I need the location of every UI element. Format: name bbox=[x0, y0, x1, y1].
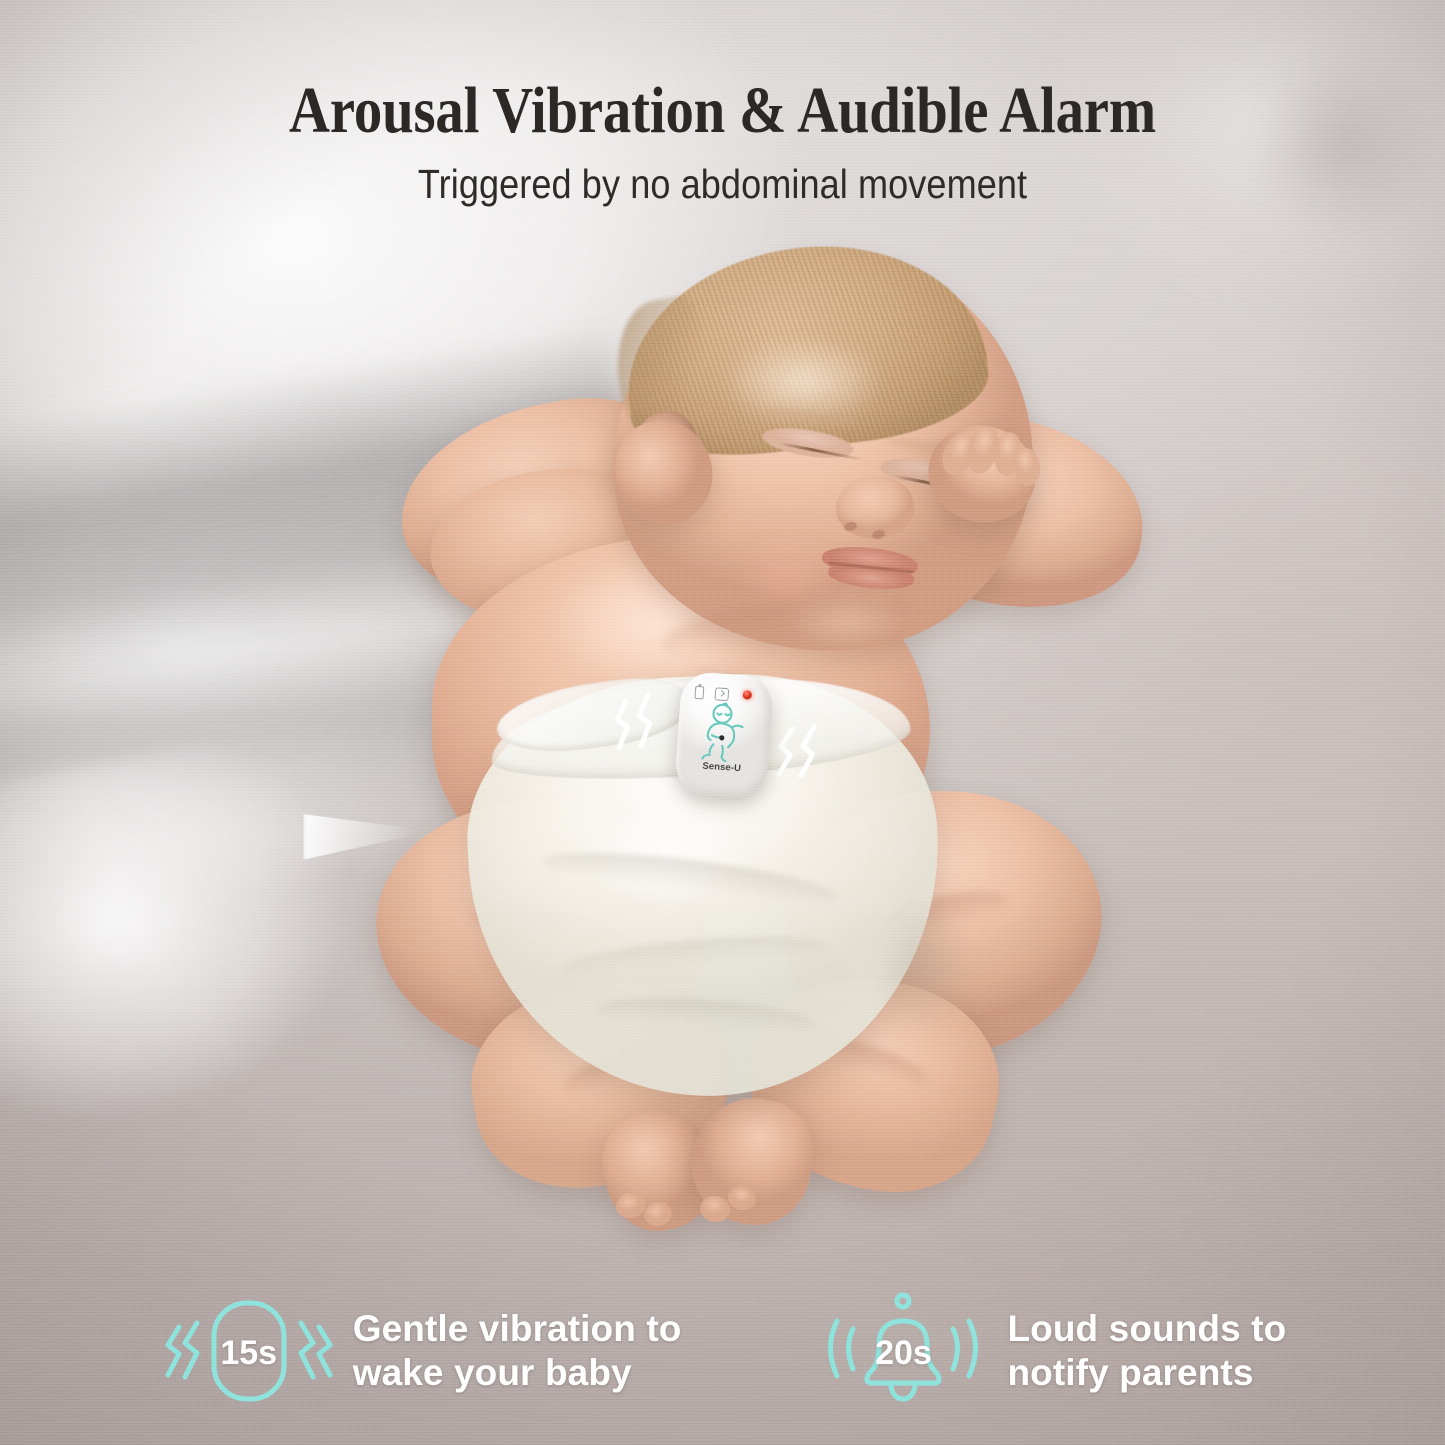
bell-icon: 20s bbox=[813, 1291, 993, 1411]
page-title: Arousal Vibration & Audible Alarm bbox=[101, 78, 1344, 144]
feature-vibration: 15s Gentle vibration to wake your baby bbox=[159, 1291, 682, 1411]
alarm-feature-text: Loud sounds to notify parents bbox=[1007, 1307, 1286, 1394]
image-grain bbox=[0, 0, 1445, 1445]
vibration-duration-label: 15s bbox=[159, 1291, 339, 1411]
header-block: Arousal Vibration & Audible Alarm Trigge… bbox=[0, 0, 1445, 205]
feature-badges: 15s Gentle vibration to wake your baby bbox=[0, 1291, 1445, 1411]
page-subtitle: Triggered by no abdominal movement bbox=[87, 164, 1359, 205]
vibration-feature-text: Gentle vibration to wake your baby bbox=[353, 1307, 682, 1394]
product-feature-image: Sense-U Arousal Vibration & Audible Alar… bbox=[0, 0, 1445, 1445]
vibration-icon: 15s bbox=[159, 1291, 339, 1411]
alarm-duration-label: 20s bbox=[813, 1291, 993, 1411]
feature-alarm: 20s Loud sounds to notify parents bbox=[813, 1291, 1286, 1411]
